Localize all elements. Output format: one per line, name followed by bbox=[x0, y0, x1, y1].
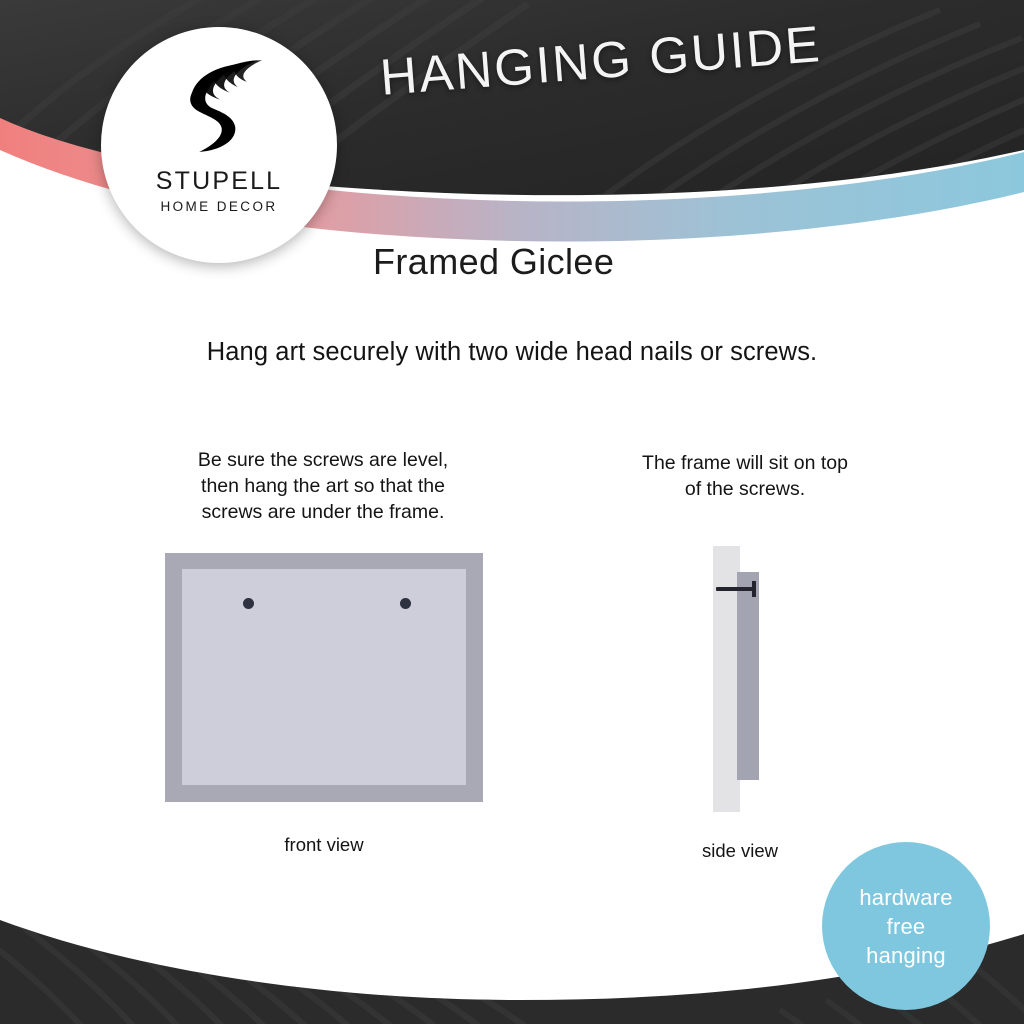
brand-tagline: HOME DECOR bbox=[160, 199, 277, 214]
product-type-subtitle: Framed Giclee bbox=[373, 241, 614, 283]
main-instruction-text: Hang art securely with two wide head nai… bbox=[0, 338, 1024, 367]
side-view-label: side view bbox=[645, 840, 835, 862]
side-view-screw-head-icon bbox=[752, 581, 756, 597]
side-view-caption-line-2: of the screws. bbox=[600, 476, 890, 502]
screw-dot-left-icon bbox=[243, 598, 254, 609]
badge-line-3: hanging bbox=[866, 941, 946, 970]
front-view-frame-diagram bbox=[165, 553, 483, 802]
front-view-frame-inner-panel bbox=[182, 569, 466, 785]
side-view-wall bbox=[713, 546, 740, 812]
screw-dot-right-icon bbox=[400, 598, 411, 609]
hardware-free-hanging-badge: hardware free hanging bbox=[822, 842, 990, 1010]
front-view-caption-line-2: then hang the art so that the bbox=[165, 473, 481, 499]
brand-name: STUPELL bbox=[156, 167, 283, 196]
badge-line-1: hardware bbox=[859, 883, 952, 912]
page-title: HANGING GUIDE bbox=[378, 8, 901, 107]
brand-logo-badge: STUPELL HOME DECOR bbox=[101, 27, 337, 263]
badge-line-2: free bbox=[887, 912, 926, 941]
footer-swirl-texture bbox=[0, 896, 636, 1024]
side-view-diagram bbox=[705, 546, 775, 816]
side-view-caption: The frame will sit on top of the screws. bbox=[600, 450, 890, 502]
side-view-frame bbox=[737, 572, 759, 780]
front-view-caption: Be sure the screws are level, then hang … bbox=[165, 447, 481, 525]
side-view-caption-line-1: The frame will sit on top bbox=[600, 450, 890, 476]
front-view-label: front view bbox=[165, 834, 483, 856]
side-view-screw-shaft-icon bbox=[716, 587, 756, 591]
hanging-guide-page: STUPELL HOME DECOR HANGING GUIDE Framed … bbox=[0, 0, 1024, 1024]
stupell-swoosh-logo-icon bbox=[165, 53, 273, 161]
front-view-caption-line-1: Be sure the screws are level, bbox=[165, 447, 481, 473]
front-view-caption-line-3: screws are under the frame. bbox=[165, 499, 481, 525]
